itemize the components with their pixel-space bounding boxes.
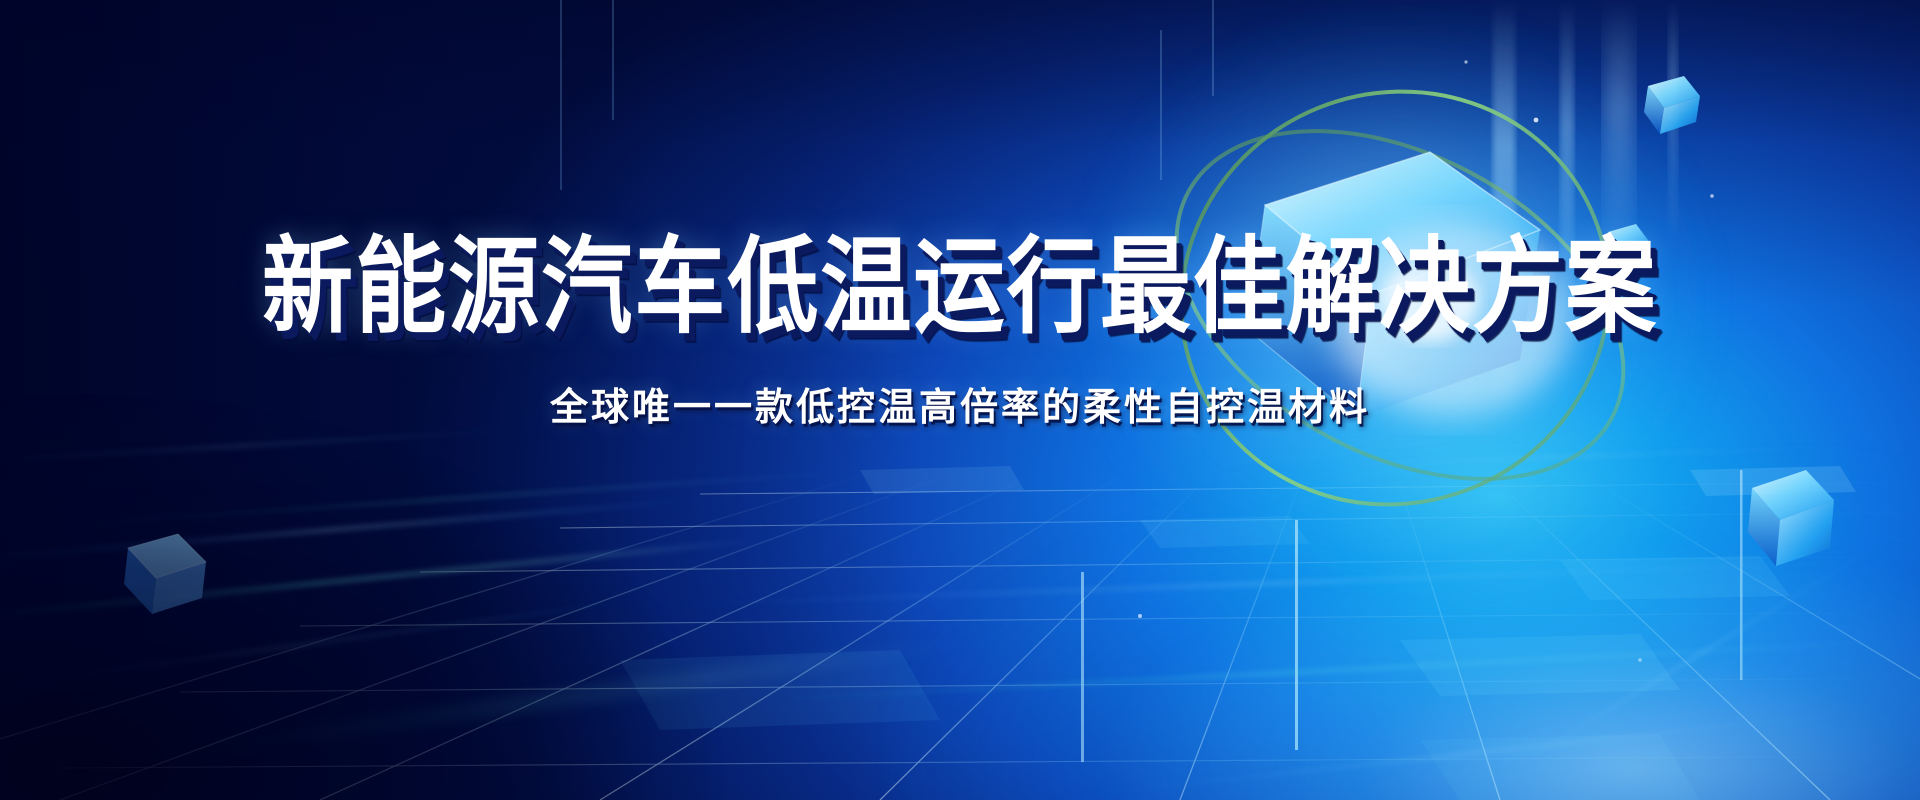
hero-text-block: 新能源汽车低温运行最佳解决方案 全球唯一一款低控温高倍率的柔性自控温材料 (0, 232, 1920, 431)
hero-banner: 新能源汽车低温运行最佳解决方案 全球唯一一款低控温高倍率的柔性自控温材料 (0, 0, 1920, 800)
page-title: 新能源汽车低温运行最佳解决方案 (10, 232, 1911, 343)
